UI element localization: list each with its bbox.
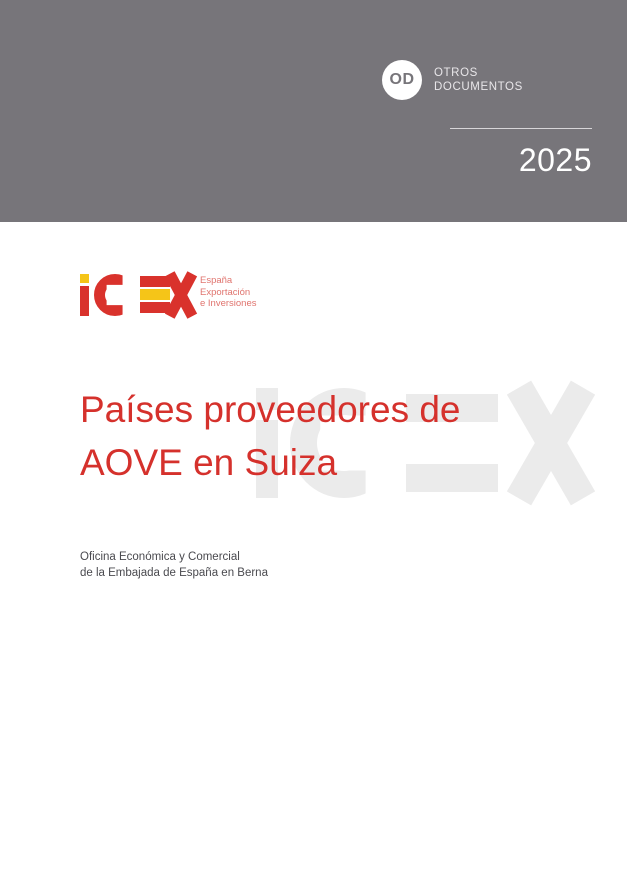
header-band: OD OTROS DOCUMENTOS 2025 <box>0 0 627 222</box>
icex-logo: España Exportación e Inversiones <box>80 272 257 316</box>
issuing-office-line1: Oficina Económica y Comercial <box>80 549 268 565</box>
icex-logo-mark <box>80 272 190 316</box>
issuing-office: Oficina Económica y Comercial de la Emba… <box>80 549 268 581</box>
header-badge-group: OD OTROS DOCUMENTOS <box>382 60 592 100</box>
logo-tagline-line1: España <box>200 275 257 287</box>
otros-documentos-badge: OD OTROS DOCUMENTOS <box>382 60 592 100</box>
icex-logo-tagline: España Exportación e Inversiones <box>200 275 257 310</box>
issuing-office-line2: de la Embajada de España en Berna <box>80 565 268 581</box>
od-badge-circle: OD <box>382 60 422 100</box>
page-title: Países proveedores de AOVE en Suiza <box>80 383 600 489</box>
logo-letter-c-icon <box>94 274 136 316</box>
logo-letter-x-icon <box>166 274 196 316</box>
logo-tagline-line2: Exportación <box>200 287 257 299</box>
logo-letter-i-stem-icon <box>80 286 89 316</box>
od-badge-label-line2: DOCUMENTOS <box>434 80 523 94</box>
od-badge-label-line1: OTROS <box>434 66 523 80</box>
od-badge-label: OTROS DOCUMENTOS <box>434 66 523 94</box>
logo-tagline-line3: e Inversiones <box>200 298 257 310</box>
header-divider-rule <box>450 128 592 129</box>
publication-year: 2025 <box>450 140 592 180</box>
logo-letter-i-dot-icon <box>80 274 89 283</box>
